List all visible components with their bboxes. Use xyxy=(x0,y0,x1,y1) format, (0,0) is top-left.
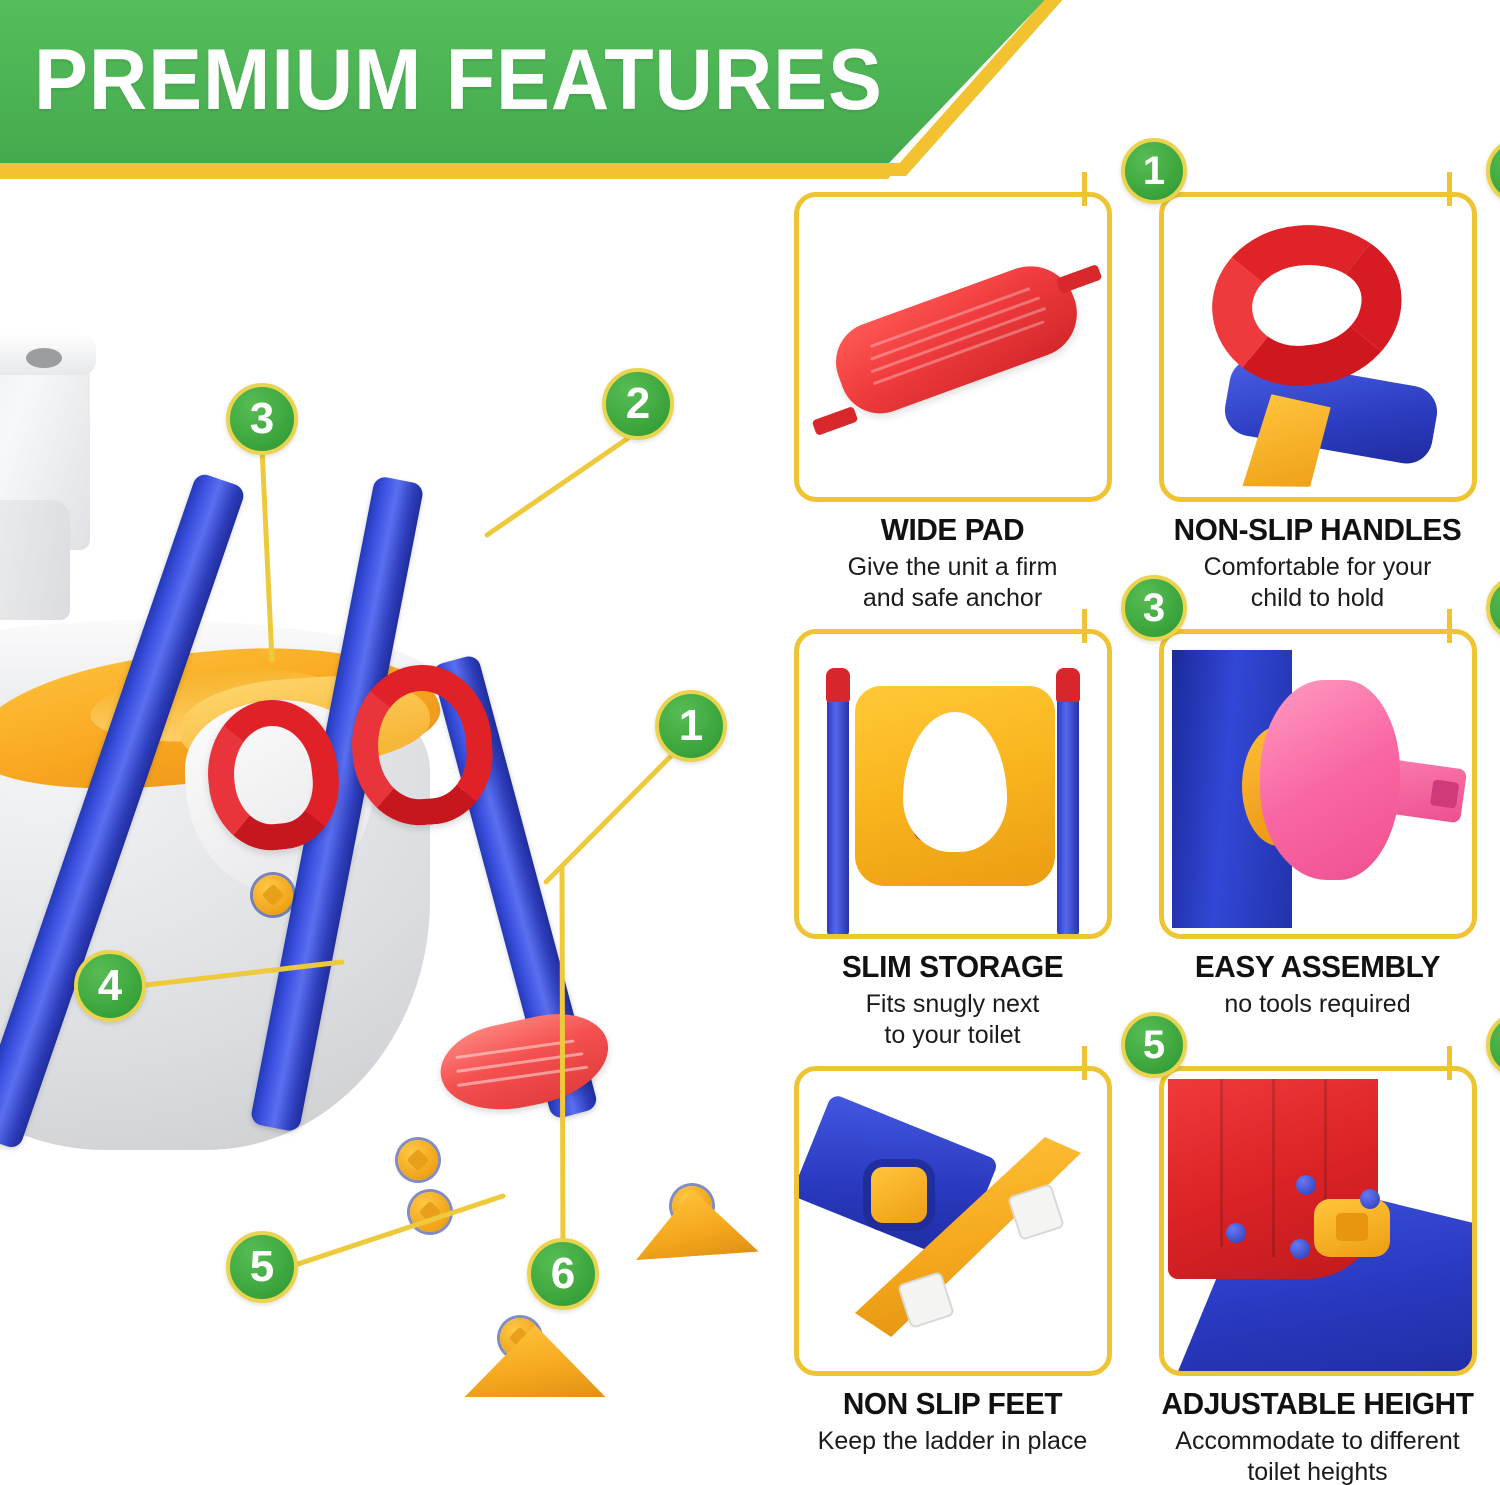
feature-subtitle: Keep the ladder in place xyxy=(782,1426,1123,1457)
storage-cap-left xyxy=(826,668,850,702)
card-image-frame xyxy=(794,192,1112,502)
feature-title: NON-SLIP HANDLES xyxy=(1142,512,1492,548)
non-slip-foot-rear xyxy=(623,1185,767,1261)
storage-rail-left xyxy=(827,674,849,939)
hero-callout-badge-1[interactable]: 1 xyxy=(655,690,727,762)
feature-card-1[interactable]: 1 WIDE PAD Give the unit a firmand safe … xyxy=(770,172,1135,609)
feature-card-4[interactable]: 4 EASY ASSEMBLY no tools required xyxy=(1135,609,1500,1046)
hero-callout-badge-5[interactable]: 5 xyxy=(226,1231,298,1303)
feature-title: ADJUSTABLE HEIGHT xyxy=(1142,1386,1492,1422)
storage-rail-right xyxy=(1057,674,1079,939)
wide-pad-illustration xyxy=(799,197,1107,497)
non-slip-foot-front xyxy=(455,1325,615,1397)
card-image-frame xyxy=(1159,1066,1477,1376)
blue-stud-d xyxy=(1226,1223,1246,1243)
blue-stud-c xyxy=(1290,1239,1310,1259)
badge-number: 2 xyxy=(626,382,650,426)
hero-callout-badge-4[interactable]: 4 xyxy=(74,950,146,1022)
card-badge-stem xyxy=(1447,1046,1452,1080)
badge-number: 1 xyxy=(679,704,703,748)
yellow-lock-knob xyxy=(871,1167,927,1223)
blue-stud-b xyxy=(1360,1189,1380,1209)
height-knob-lower xyxy=(410,1192,450,1232)
badge-number: 3 xyxy=(1143,588,1165,628)
hero-callout-badge-3[interactable]: 3 xyxy=(226,383,298,455)
feature-card-3[interactable]: 3 SLIM STORAGE Fits snugly nextto your t… xyxy=(770,609,1135,1046)
infographic-page: PREMIUM FEATURES xyxy=(0,0,1500,1485)
toilet-neck xyxy=(0,500,70,620)
card-image-frame xyxy=(794,1066,1112,1376)
card-badge-stem xyxy=(1447,172,1452,206)
feature-card-grid: 1 WIDE PAD Give the unit a firmand safe … xyxy=(770,172,1500,1485)
card-badge-stem xyxy=(1082,609,1087,643)
card-badge-stem xyxy=(1082,1046,1087,1080)
header-banner: PREMIUM FEATURES xyxy=(0,0,1070,180)
hero-callout-badge-2[interactable]: 2 xyxy=(602,368,674,440)
easy-assembly-illustration xyxy=(1164,634,1472,934)
adjustable-height-illustration xyxy=(1164,1071,1472,1371)
feature-card-6[interactable]: 6 ADJUSTABLE HEIGHT Accommodate to diffe… xyxy=(1135,1046,1500,1483)
feature-card-2[interactable]: 2 NON-SLIP HANDLES Comfortable for yourc… xyxy=(1135,172,1500,609)
card-image-frame xyxy=(1159,629,1477,939)
yellow-adjust-knob xyxy=(1314,1199,1390,1257)
slim-storage-illustration xyxy=(799,634,1107,934)
pad-tab-lower xyxy=(812,406,859,436)
feature-subtitle: no tools required xyxy=(1147,989,1488,1020)
pad-tab-upper xyxy=(1056,264,1103,294)
feature-title: WIDE PAD xyxy=(777,512,1127,548)
pink-thumb-knob xyxy=(1260,680,1400,880)
badge-number: 5 xyxy=(1143,1025,1165,1065)
non-slip-handle-illustration xyxy=(1164,197,1472,497)
height-knob-mid xyxy=(398,1140,438,1180)
feature-subtitle: Comfortable for yourchild to hold xyxy=(1147,552,1488,614)
storage-cap-right xyxy=(1056,668,1080,702)
page-title: PREMIUM FEATURES xyxy=(34,30,883,130)
badge-number: 3 xyxy=(250,397,274,441)
feature-subtitle: Accommodate to differenttoilet heights xyxy=(1147,1426,1488,1485)
badge-number: 5 xyxy=(250,1245,274,1289)
non-slip-feet-illustration xyxy=(799,1071,1107,1371)
badge-number: 1 xyxy=(1143,151,1165,191)
card-badge-stem xyxy=(1082,172,1087,206)
badge-number: 6 xyxy=(551,1252,575,1296)
hero-callout-badge-6[interactable]: 6 xyxy=(527,1238,599,1310)
feature-card-5[interactable]: 5 NON SLIP FEET Keep the ladder in place xyxy=(770,1046,1135,1483)
height-knob-upper xyxy=(253,875,293,915)
badge-number: 4 xyxy=(98,964,122,1008)
red-pad-body xyxy=(825,253,1090,424)
feature-title: EASY ASSEMBLY xyxy=(1142,949,1492,985)
card-badge-stem xyxy=(1447,609,1452,643)
feature-subtitle: Give the unit a firmand safe anchor xyxy=(782,552,1123,614)
feature-subtitle: Fits snugly nextto your toilet xyxy=(782,989,1123,1051)
blue-stud-a xyxy=(1296,1175,1316,1195)
feature-title: SLIM STORAGE xyxy=(777,949,1127,985)
feature-title: NON SLIP FEET xyxy=(777,1386,1127,1422)
card-image-frame xyxy=(794,629,1112,939)
card-image-frame xyxy=(1159,192,1477,502)
toilet-tank-hole xyxy=(26,348,62,368)
